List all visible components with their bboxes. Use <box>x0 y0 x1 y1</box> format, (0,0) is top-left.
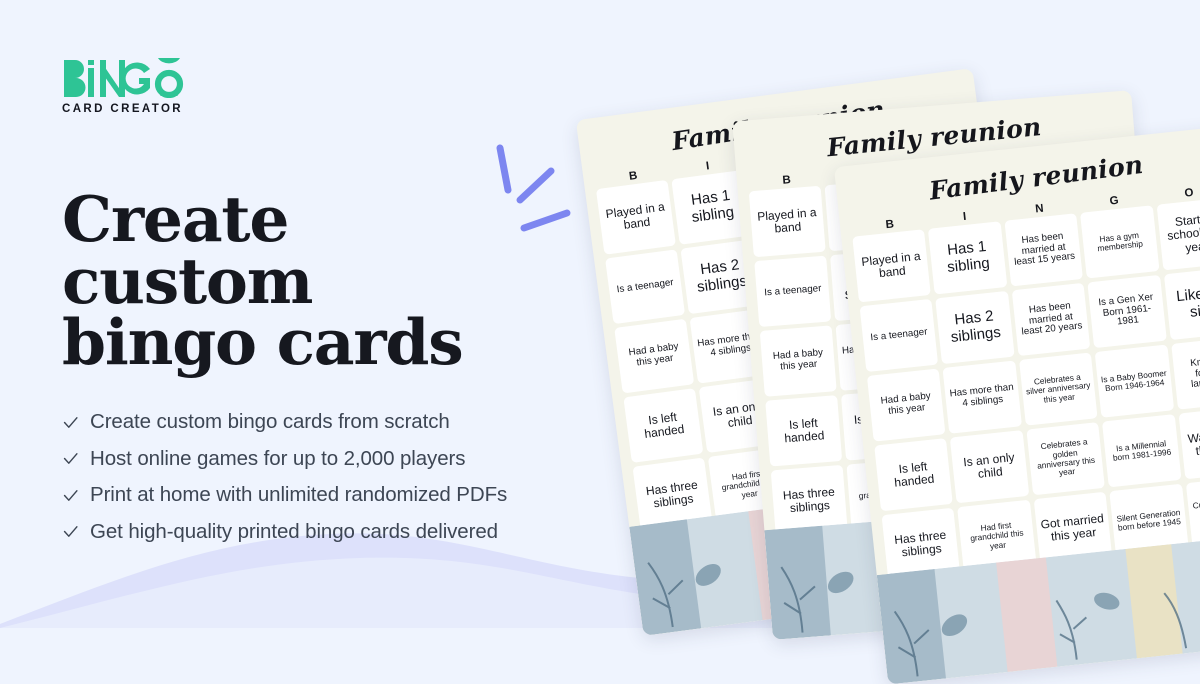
list-item-label: Host online games for up to 2,000 player… <box>90 449 465 470</box>
bingo-cell[interactable]: Started school this year <box>1156 197 1200 270</box>
list-item: Get high-quality printed bingo cards del… <box>62 522 682 543</box>
bingo-cell[interactable]: Has three siblings <box>882 508 961 581</box>
list-item-label: Get high-quality printed bingo cards del… <box>90 522 498 543</box>
check-icon <box>62 414 79 431</box>
list-item: Print at home with unlimited randomized … <box>62 485 682 506</box>
bingo-cell[interactable]: Is a Gen Xer Born 1961-1981 <box>1088 275 1167 348</box>
hero-content: CARD CREATOR Create custom bingo cards C… <box>62 52 682 558</box>
feature-list: Create custom bingo cards from scratch H… <box>62 412 682 542</box>
bingo-cell[interactable]: Was on TV this year <box>1178 406 1200 479</box>
bingo-cell[interactable]: Had a baby this year <box>760 325 837 396</box>
headline-line-1: Create custom <box>62 189 532 312</box>
bingo-cell[interactable]: Is a Millennial born 1981-1996 <box>1102 414 1181 487</box>
bingo-cell[interactable]: Played in a band <box>852 229 931 302</box>
bingo-cell[interactable]: Is left handed <box>765 395 842 466</box>
check-icon <box>62 487 79 504</box>
page-title: Create custom bingo cards <box>62 189 532 374</box>
bingo-cell[interactable]: Has more than 4 siblings <box>943 360 1022 433</box>
bingo-cell[interactable]: Has a gym membership <box>1080 205 1159 278</box>
list-item: Host online games for up to 2,000 player… <box>62 449 682 470</box>
list-item-label: Create custom bingo cards from scratch <box>90 412 450 433</box>
bingo-cell[interactable]: Has been married at least 15 years <box>1004 213 1083 286</box>
card-grid: Played in a bandHas 1 siblingHas been ma… <box>841 196 1200 582</box>
bingo-cell[interactable]: Is a teenager <box>754 256 831 327</box>
bingo-cell[interactable]: Is a Baby Boomer Born 1946-1964 <box>1095 344 1174 417</box>
bingo-card-front[interactable]: Family reunion B I N G O Played in a ban… <box>834 126 1200 684</box>
bingo-cell[interactable]: Has been married at least 20 years <box>1012 283 1091 356</box>
bingo-cell[interactable]: Is left handed <box>874 438 953 511</box>
bingo-cell[interactable]: Is a teenager <box>860 299 939 372</box>
bingo-cell[interactable]: Currently serving in the Armed Forces <box>1185 476 1200 549</box>
bingo-wordmark-icon <box>62 52 184 98</box>
list-item: Create custom bingo cards from scratch <box>62 412 682 433</box>
bingo-cell[interactable]: Has three siblings <box>771 465 848 536</box>
bingo-cell[interactable]: Has 2 siblings <box>936 291 1015 364</box>
bingo-cell[interactable]: Knows a foreign language <box>1171 337 1200 410</box>
bingo-cell[interactable]: Likes to sing <box>1164 267 1200 340</box>
bingo-cell[interactable]: Got married this year <box>1034 492 1113 565</box>
bingo-cell[interactable]: Is an only child <box>950 430 1029 503</box>
bingo-cell[interactable]: Had a baby this year <box>867 368 946 441</box>
list-item-label: Print at home with unlimited randomized … <box>90 485 507 506</box>
brand-logo[interactable]: CARD CREATOR <box>62 52 242 115</box>
check-icon <box>62 450 79 467</box>
bingo-cell[interactable]: Celebrates a silver anniversary this yea… <box>1019 352 1098 425</box>
bingo-cell[interactable]: Played in a band <box>749 186 826 257</box>
headline-line-2: bingo cards <box>62 312 532 374</box>
bingo-cell[interactable]: Had first grandchild this year <box>958 500 1037 573</box>
bingo-cell[interactable]: Celebrates a golden anniversary this yea… <box>1026 422 1105 495</box>
brand-tagline: CARD CREATOR <box>62 103 242 115</box>
check-icon <box>62 523 79 540</box>
bingo-cell[interactable]: Has 1 sibling <box>928 221 1007 294</box>
bingo-cell[interactable]: Silent Generation born before 1945 <box>1109 484 1188 557</box>
